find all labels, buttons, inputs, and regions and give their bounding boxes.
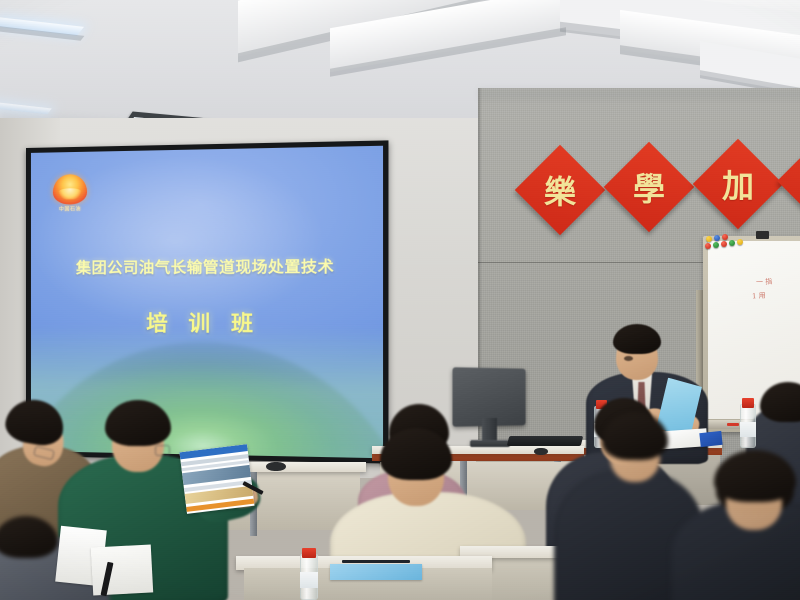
tray-marker-red-1[interactable] (727, 423, 739, 426)
petrochina-logo-caption: 中国石油 (53, 205, 87, 212)
presenter-hair (613, 324, 661, 354)
water-bottle-right[interactable] (740, 404, 756, 448)
magnet-yellow-2[interactable] (737, 239, 743, 245)
bottle-cap (742, 398, 754, 408)
keyboard[interactable] (507, 436, 583, 446)
bottle-label (740, 422, 756, 437)
paper-stack-foreground-2[interactable] (91, 544, 153, 595)
stone-wall-top-shadow (478, 88, 800, 100)
banner-le: 樂 (515, 145, 606, 236)
slide-subtitle: 培 训 班 (31, 307, 383, 339)
whiteboard-clip[interactable] (756, 231, 769, 239)
classroom-photo: 樂 學 加 油 一 指 1 用 (0, 0, 800, 600)
blue-handout-front[interactable] (330, 564, 422, 580)
banner-jia: 加 (693, 139, 784, 230)
presenter-blue-folder[interactable] (699, 431, 722, 447)
projection-screen-frame: 中国石油 集团公司油气长输管道现场处置技术 培 训 班 (26, 140, 388, 463)
magnet-green-2[interactable] (729, 240, 735, 246)
slide-title: 集团公司油气长输管道现场处置技术 (31, 255, 383, 278)
magnet-green-1[interactable] (713, 242, 719, 248)
presenter-mouth (624, 356, 633, 361)
whiteboard-ink-line-1: 一 指 (756, 277, 773, 288)
magnet-red-3[interactable] (721, 241, 727, 247)
whiteboard-ink-line-2: 1 用 (752, 291, 766, 302)
petrochina-logo: 中国石油 (53, 174, 87, 215)
banner-xue: 學 (604, 142, 695, 233)
water-bottle-center[interactable] (300, 554, 318, 600)
left-desk-mouse[interactable] (266, 462, 286, 471)
bottle-cap (302, 548, 316, 558)
petrochina-sun-icon (53, 174, 87, 204)
projection-screen[interactable]: 中国石油 集团公司油气长输管道现场处置技术 培 训 班 (31, 146, 383, 459)
training-booklet[interactable] (179, 444, 254, 514)
slide-globe-haze (31, 326, 383, 459)
monitor-base (470, 440, 510, 447)
pen-front-desk[interactable] (342, 560, 410, 563)
bottle-label (300, 572, 318, 588)
magnet-red-1[interactable] (722, 234, 728, 240)
magnet-yellow-1[interactable] (706, 236, 712, 242)
magnet-red-2[interactable] (705, 243, 711, 249)
mouse[interactable] (534, 448, 548, 455)
magnet-blue-1[interactable] (714, 235, 720, 241)
green-sweater-glasses (155, 445, 170, 456)
